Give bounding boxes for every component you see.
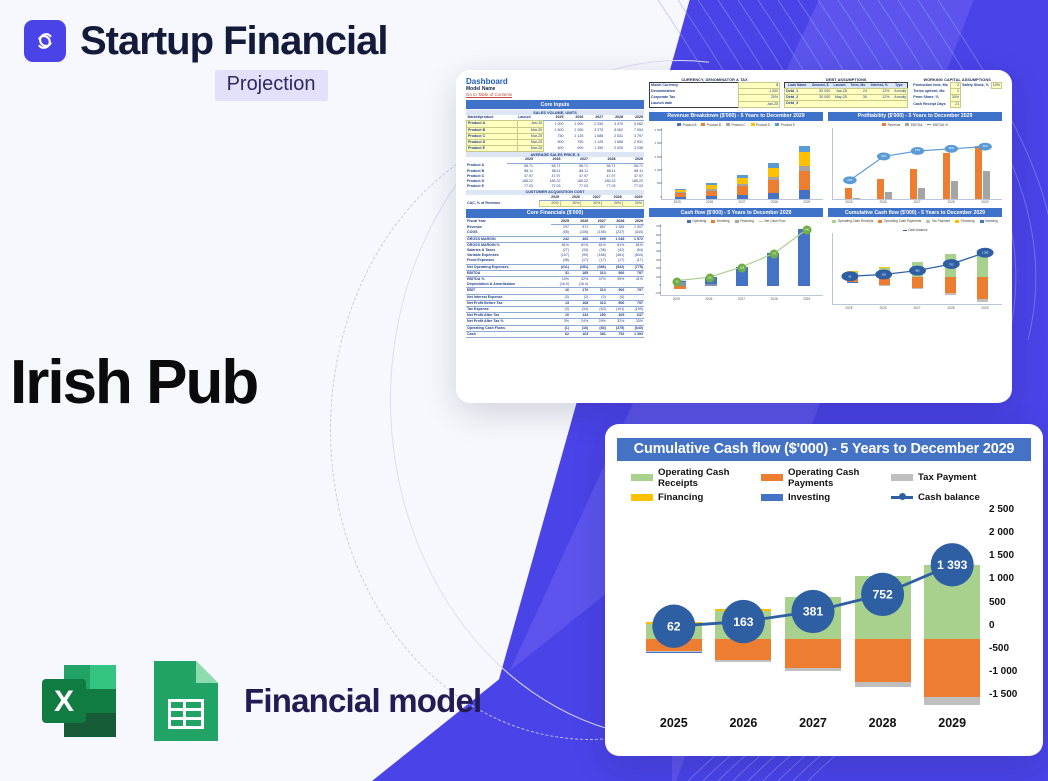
y-tick-label: 0 (989, 620, 1029, 631)
cumulative-cash-flow-mini-legend: Operating Cash Receipts Operating Cash P… (828, 218, 1002, 233)
data-label: 752 (949, 263, 953, 266)
y-tick-label: 1 500 (989, 550, 1029, 561)
svg-text:X: X (54, 685, 74, 718)
revenue-breakdown-chart[interactable]: Revenue Breakdown ($'000) - 5 Years to D… (649, 110, 823, 205)
cumulative-mini-line (833, 233, 1002, 304)
revenue-breakdown-xaxis: 20252026 20272028 2029 (661, 200, 823, 205)
data-label: 37% (915, 149, 920, 152)
y-tick-label: 500 (989, 597, 1029, 608)
data-label: 381 (915, 270, 919, 273)
revenue-breakdown-bars (662, 128, 823, 199)
profitability-chart[interactable]: Profitability ($'000) - 5 Years to Decem… (828, 110, 1002, 205)
dashboard-title: Dashboard (466, 78, 644, 86)
core-financials-table: Fiscal Year 20252026 20272028 2029 Reven… (466, 219, 644, 338)
cash-flow-title: Cash flow ($'000) - 5 Years to December … (649, 208, 823, 217)
cash-flow-yaxis: 700600 500400 300200 1000 -100 (650, 224, 661, 295)
bar-stack (768, 163, 779, 199)
y-tick-label: -1 500 (989, 689, 1029, 700)
cash-flow-chart[interactable]: Cash flow ($'000) - 5 Years to December … (649, 206, 823, 310)
data-label: 62 (848, 276, 851, 279)
data-label: 41% (982, 145, 987, 148)
data-label: 39% (949, 147, 954, 150)
revenue-breakdown-title: Revenue Breakdown ($'000) - 5 Years to D… (649, 112, 823, 121)
y-tick-label: 2 500 (989, 504, 1029, 515)
data-label: 640 (802, 225, 811, 234)
brand-subtitle: Projection (215, 70, 328, 101)
data-label: 10% (847, 179, 852, 182)
brand-title: Startup Financial (80, 21, 388, 61)
chart-title: Cumulative Cash flow ($'000) - 5 Years t… (617, 438, 1031, 461)
data-label: 62 (673, 277, 682, 286)
chart-y-axis: 2 5002 0001 5001 0005000-500-1 000-1 500 (989, 504, 1029, 700)
table-row: Cash Receipt Days21 (912, 101, 1001, 107)
bar-stack (675, 189, 686, 199)
cumulative-cash-flow-card[interactable]: Cumulative Cash flow ($'000) - 5 Years t… (605, 424, 1043, 756)
svg-text:62: 62 (667, 619, 681, 633)
data-label: 101 (705, 274, 714, 283)
profitability-xaxis: 20252026 20272028 2029 (832, 200, 1002, 205)
svg-text:163: 163 (733, 615, 753, 629)
google-sheets-icon (148, 655, 222, 747)
revenue-breakdown-yaxis: 2 500 2 000 1 500 1 000 500 0 (651, 128, 662, 199)
page-title: Irish Pub (10, 352, 257, 414)
y-tick-label: -1 000 (989, 666, 1029, 677)
footer-formats: X Financial model (34, 655, 481, 747)
cumulative-cash-flow-mini-chart[interactable]: Cumulative Cash flow ($'000) - 5 Years t… (828, 206, 1002, 310)
cumulative-cash-flow-mini-title: Cumulative Cash flow ($'000) - 5 Years t… (828, 208, 1002, 217)
data-label: 371 (770, 249, 779, 258)
data-label: 32% (881, 155, 886, 158)
debt-assumptions-table: Loan NameAmount, $ LaunchTerm, Mo Intere… (784, 82, 908, 108)
bar-stack (737, 175, 748, 199)
cash-balance-line: 621633817521 393 (639, 476, 987, 736)
ebitda-pct-line (833, 128, 1002, 199)
revenue-breakdown-plot: 2 500 2 000 1 500 1 000 500 0 (661, 128, 823, 200)
avg-price-table: 20252026 20272028 2029 Product A 58.7158… (466, 157, 644, 189)
wc-block-header: WORKING CAPITAL ASSUMPTIONS (912, 78, 1002, 82)
currency-assumptions-table: Model Currency$ Denomination1 000 Corpor… (649, 82, 780, 108)
chart-plot-area: 621633817521 393 2 5002 0001 5001 000500… (639, 516, 987, 712)
table-row: Production time, Mo2 Safety Stock, %10% (912, 83, 1001, 89)
toc-link[interactable]: Go to Table of Contents (466, 92, 644, 98)
dashboard-screenshot-card[interactable]: Dashboard Model Name Go to Table of Cont… (456, 70, 1012, 403)
core-inputs-band: Core Inputs (466, 100, 644, 109)
cash-flow-xaxis: 20252026 20272028 2029 (660, 296, 823, 301)
svg-text:381: 381 (803, 605, 823, 619)
core-financials-band: Core Financials ($'000) (466, 209, 644, 218)
table-row: Product EMar-25 400900 1 3502 025 3 038 (467, 146, 645, 152)
y-tick-label: 1 000 (989, 573, 1029, 584)
table-row: Cash621633817521 393 (466, 331, 644, 337)
brand-logo: Startup Financial Projection (24, 20, 388, 101)
working-capital-table: Production time, Mo2 Safety Stock, %10% … (912, 82, 1002, 108)
y-tick-label: 2 000 (989, 527, 1029, 538)
y-tick-label: -500 (989, 643, 1029, 654)
sales-volume-table: Market/product Launch 20252026 20272028 … (466, 115, 644, 152)
data-label: 218 (738, 263, 747, 272)
svg-text:1 393: 1 393 (937, 558, 968, 572)
bar-stack (706, 183, 717, 199)
table-row: CAC, % of Revenue 20%20% 20%20% 20% (466, 200, 644, 206)
cumulative-cash-flow-mini-plot: 621633817521 393 (832, 233, 1002, 305)
e-logo-icon (24, 20, 66, 62)
bar-stack (799, 146, 810, 199)
data-label: 1 393 (982, 252, 989, 255)
microsoft-excel-icon: X (34, 655, 126, 747)
profitability-plot: 10%32%37%39%41% (832, 128, 1002, 200)
cumulative-cash-flow-mini-xaxis: 20252026 20272028 2029 (832, 305, 1002, 310)
profitability-title: Profitability ($'000) - 5 Years to Decem… (828, 112, 1002, 121)
data-label: 163 (882, 274, 886, 277)
net-cash-flow-line (661, 224, 823, 295)
cac-table: 20252026 20272028 2029 CAC, % of Revenue… (466, 195, 644, 207)
table-row: Debt_3 (785, 101, 908, 107)
footer-label: Financial model (244, 682, 481, 720)
table-row: Launch dateJan-25 (650, 101, 780, 107)
svg-text:752: 752 (872, 588, 892, 602)
cash-flow-plot: 700600 500400 300200 1000 -100 621012183… (660, 224, 823, 296)
